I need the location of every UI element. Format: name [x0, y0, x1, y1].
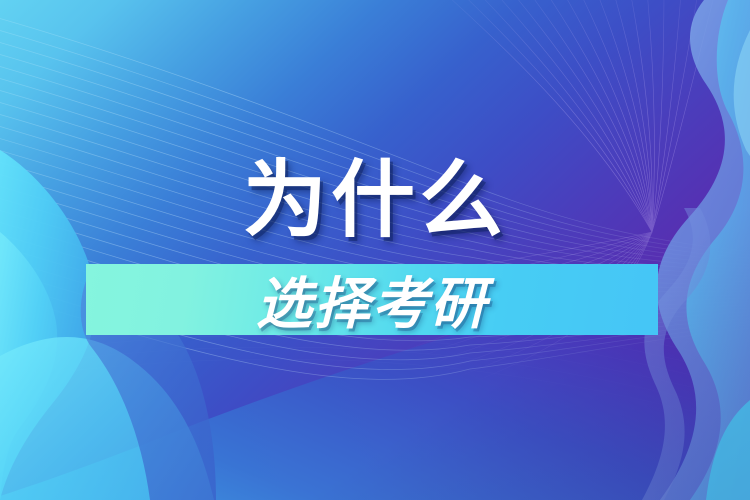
banner-headline: 为什么	[0, 152, 750, 248]
promo-banner: 为什么 选择考研	[0, 0, 750, 500]
vignette-layer	[0, 0, 750, 500]
banner-subheadline: 选择考研	[86, 264, 658, 335]
